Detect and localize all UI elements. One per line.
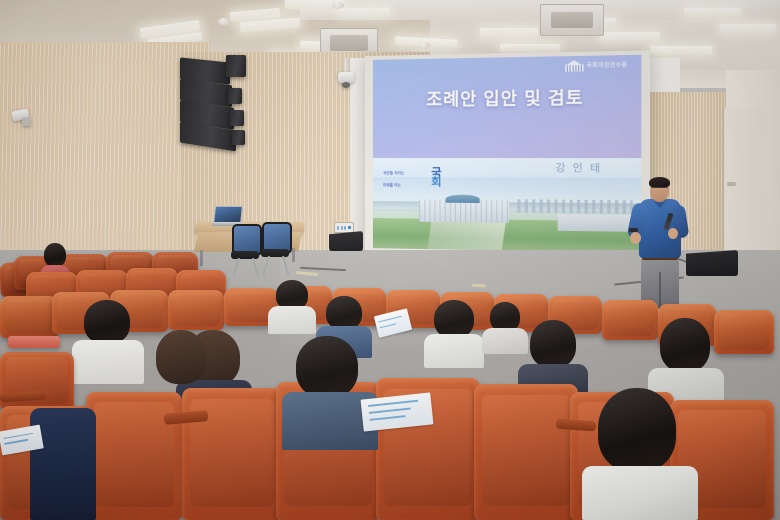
audience-head [84, 300, 130, 344]
na-logo-mark: 국 회 [431, 169, 440, 188]
presenter-hand-right [668, 228, 678, 239]
audience-head [598, 388, 676, 472]
wall-camera-lens [22, 118, 31, 126]
audience-head [296, 336, 358, 398]
ceiling-light [720, 24, 776, 32]
door-handle[interactable] [727, 182, 736, 186]
seat [168, 290, 224, 330]
audience-head [530, 320, 576, 368]
presenter-hand-left [630, 232, 641, 244]
table-leg [200, 250, 203, 266]
photo-city-skyline [517, 199, 633, 213]
audience-head [434, 300, 474, 338]
ceiling-light [684, 8, 740, 16]
projection-screen: 국회의정연수원 조례안 입안 및 검토 강 인 태 국민을 지키는 미래를 여는 [365, 50, 650, 261]
institute-logo-text: 국회의정연수원 [586, 61, 627, 70]
floor-monitor-speaker-right [686, 250, 738, 276]
chair-seat [231, 251, 259, 259]
na-logo-mark-line2: 회 [431, 179, 440, 189]
audience-torso [482, 328, 528, 354]
line-array-bracket [232, 130, 245, 145]
wall-control-panel[interactable] [334, 222, 354, 233]
audience-torso [582, 466, 698, 520]
ceiling-light [600, 32, 660, 40]
table-leg [292, 248, 295, 262]
audience-head [156, 330, 206, 384]
chair-seat [261, 249, 289, 257]
seat [602, 300, 658, 340]
ceiling-light [650, 46, 712, 54]
lecture-hall-photo: 국회의정연수원 조례안 입안 및 검토 강 인 태 국민을 지키는 미래를 여는 [0, 0, 780, 520]
audience-head [660, 318, 710, 372]
seat [86, 392, 182, 520]
institute-building-icon [565, 60, 583, 72]
slide-surface: 국회의정연수원 조례안 입안 및 검토 강 인 태 국민을 지키는 미래를 여는 [373, 55, 641, 253]
na-logo-slogan-line1: 국민을 지키는 [383, 171, 404, 176]
smoke-detector [218, 18, 230, 25]
line-array-bracket [226, 55, 246, 77]
audience-head [44, 243, 66, 267]
audience-head [326, 296, 362, 330]
audience-torso [72, 340, 144, 384]
slide-author: 강 인 태 [556, 159, 603, 175]
ceiling-light [480, 28, 538, 36]
seat [474, 384, 578, 520]
glasses-icon [651, 187, 668, 192]
audience-torso [30, 408, 96, 520]
side-door[interactable] [723, 108, 764, 268]
ceiling-light [340, 8, 390, 16]
smoke-detector [418, 42, 430, 49]
institute-logo: 국회의정연수원 [565, 59, 627, 72]
audience-torso [268, 306, 316, 334]
photo-assembly-building [419, 200, 509, 223]
seat [182, 388, 282, 520]
seat [714, 310, 774, 354]
slide-title-band: 국회의정연수원 조례안 입안 및 검토 [373, 55, 641, 158]
seat-cushion [8, 336, 60, 348]
photo-plaza-path [428, 222, 506, 251]
ceiling-camera-lens [342, 82, 350, 88]
floor-monitor-speaker-left [329, 231, 363, 251]
slide-title: 조례안 입안 및 검토 [373, 83, 641, 112]
seat [0, 296, 58, 338]
line-array-bracket [228, 88, 242, 104]
ceiling-light [500, 44, 560, 52]
ac-vent [540, 4, 604, 36]
presenter-wristwatch [629, 228, 638, 232]
na-logo-slogan-line2: 미래를 여는 [383, 183, 401, 188]
line-array-bracket [230, 110, 244, 126]
audience-torso [424, 334, 484, 368]
national-assembly-logo: 국민을 지키는 미래를 여는 국 회 [383, 169, 461, 196]
smoke-detector [332, 2, 344, 9]
